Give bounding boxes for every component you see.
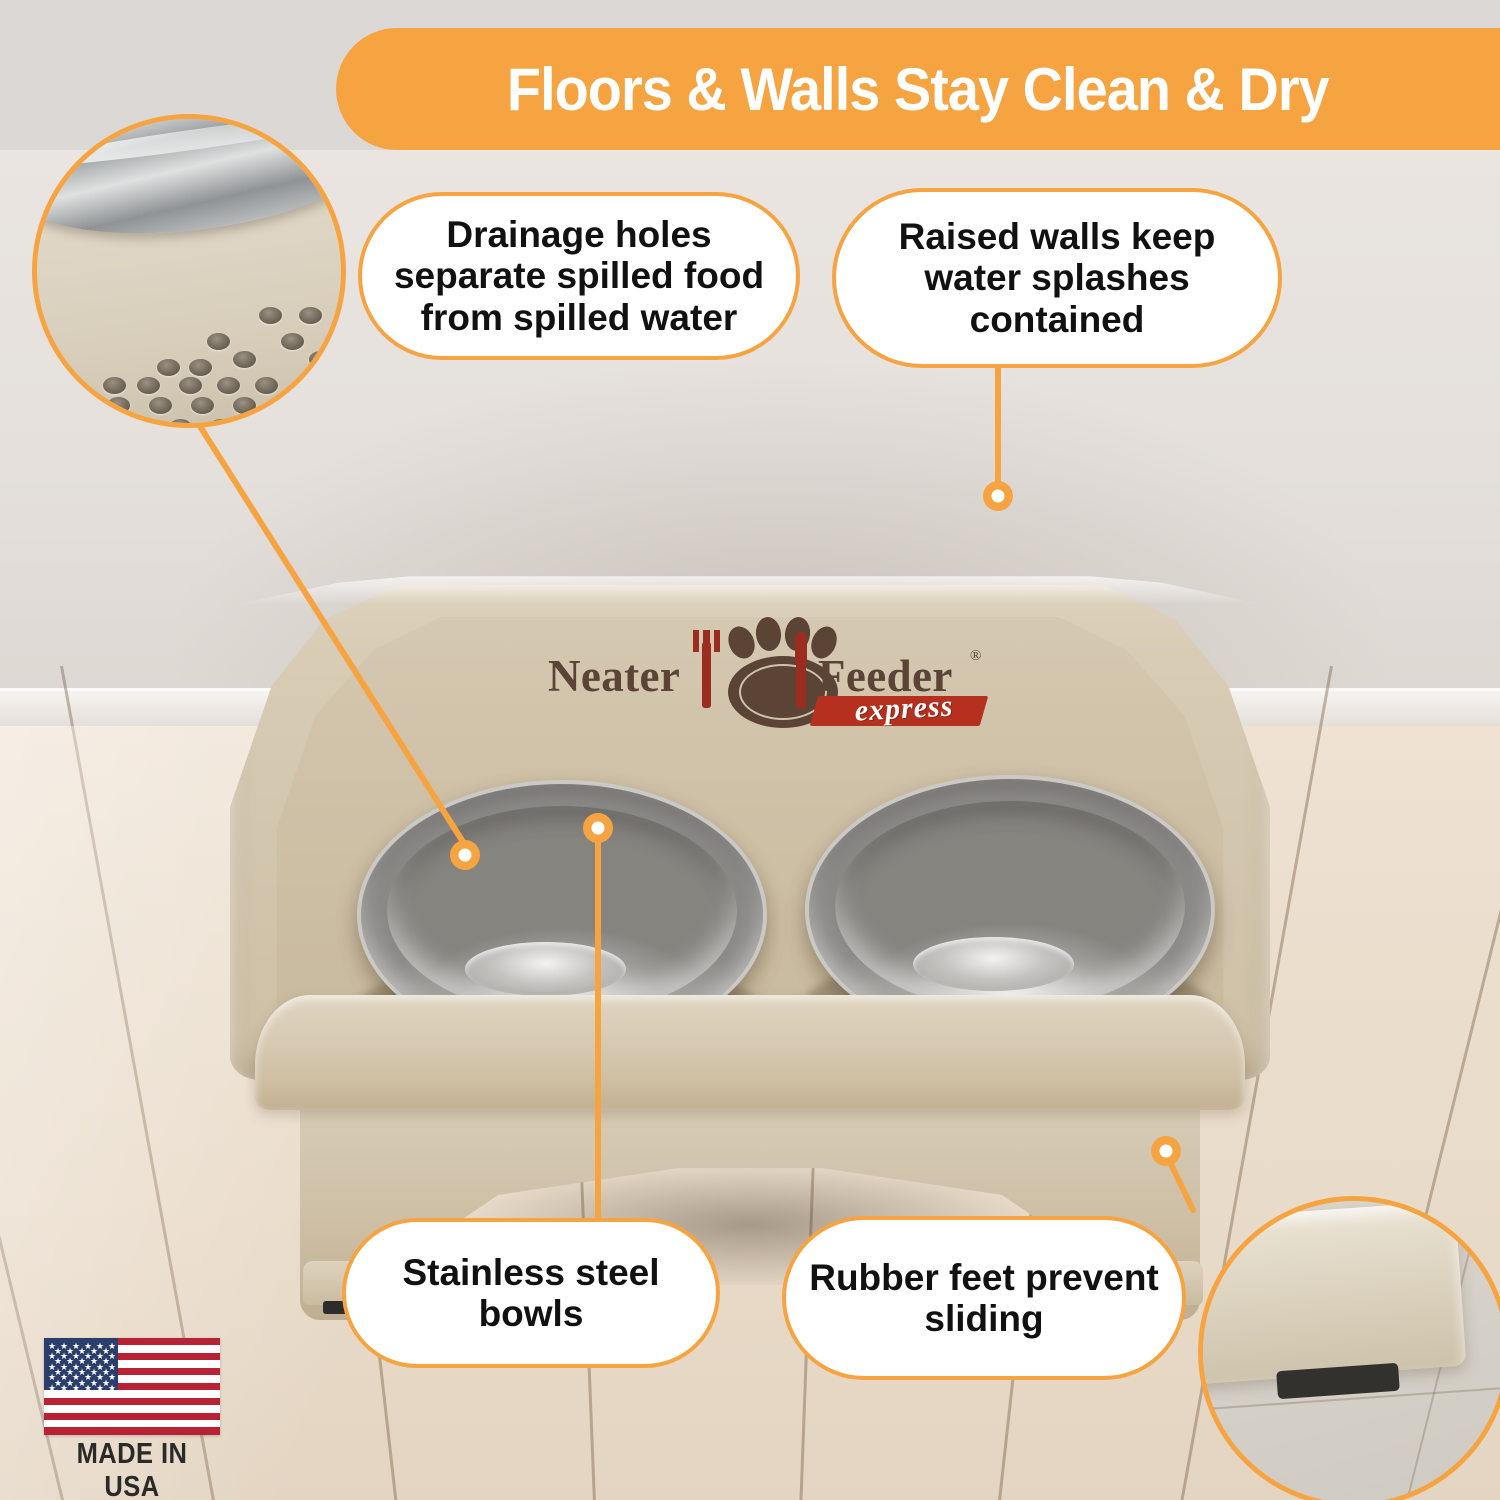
drainage-hole <box>255 377 278 394</box>
flag-star: ★ <box>108 1384 116 1393</box>
drainage-hole <box>217 377 240 394</box>
drainage-hole <box>233 397 256 414</box>
header-banner: Floors & Walls Stay Clean & Dry <box>336 28 1500 150</box>
drainage-hole <box>179 377 202 394</box>
callout-raised-walls: Raised walls keep water splashes contain… <box>832 188 1282 368</box>
made-in-usa-badge: ★★★★★★★★★★★★★★★★★★★★★★★★★★★★★★★★★★★★★★★★… <box>44 1338 220 1466</box>
drainage-holes-closeup-inset <box>32 114 346 428</box>
feeder-leg-detail <box>1198 1201 1466 1387</box>
drainage-hole <box>191 397 214 414</box>
drainage-hole <box>103 377 126 394</box>
drainage-hole <box>157 359 180 376</box>
logo-brand-first: Neater <box>548 650 680 702</box>
callout-text: Raised walls keep water splashes contain… <box>836 216 1278 340</box>
flag-stripe <box>44 1398 220 1405</box>
callout-text: Stainless steel bowls <box>346 1252 716 1335</box>
drainage-hole <box>315 363 338 380</box>
drainage-hole <box>137 377 160 394</box>
flag-stripe <box>44 1413 220 1420</box>
drainage-hole <box>107 397 130 414</box>
drainage-hole <box>233 351 256 368</box>
bowl-bottom <box>465 942 626 996</box>
made-in-usa-label: MADE IN USA <box>55 1438 210 1500</box>
drainage-hole <box>207 333 230 350</box>
knife-icon <box>796 642 806 708</box>
product-rim-highlight <box>235 575 1265 605</box>
flag-star: ★ <box>96 1384 104 1393</box>
bowl-interior <box>387 806 737 1016</box>
drainage-hole <box>275 397 298 414</box>
flag-star: ★ <box>84 1384 92 1393</box>
rubber-foot-closeup-inset <box>1198 1196 1500 1500</box>
header-title: Floors & Walls Stay Clean & Dry <box>507 55 1329 124</box>
flag-star: ★ <box>60 1384 68 1393</box>
callout-text: Drainage holes separate spilled food fro… <box>362 214 796 338</box>
us-flag-icon: ★★★★★★★★★★★★★★★★★★★★★★★★★★★★★★★★★★★★★★★★… <box>44 1338 220 1435</box>
paw-toe-icon <box>754 616 782 652</box>
fork-icon <box>702 642 711 708</box>
registered-mark: ® <box>970 648 981 665</box>
callout-stainless-bowls: Stainless steel bowls <box>342 1218 720 1368</box>
drainage-hole <box>189 359 212 376</box>
drainage-hole <box>281 333 304 350</box>
infographic-canvas: Neater Feeder ® express <box>0 0 1500 1500</box>
drainage-hole <box>299 307 322 324</box>
flag-stripe <box>44 1427 220 1434</box>
flag-star: ★ <box>48 1384 56 1393</box>
callout-rubber-feet: Rubber feet prevent sliding <box>782 1216 1186 1380</box>
brand-logo: Neater Feeder ® express <box>542 620 982 730</box>
flag-star: ★ <box>72 1384 80 1393</box>
drainage-hole <box>169 419 192 428</box>
flag-canton: ★★★★★★★★★★★★★★★★★★★★★★★★★★★★★★★★★★★★★★★★… <box>44 1338 118 1390</box>
drainage-hole <box>149 397 172 414</box>
bowl-rim-detail <box>32 114 346 256</box>
callout-drainage-holes: Drainage holes separate spilled food fro… <box>358 192 800 360</box>
callout-text: Rubber feet prevent sliding <box>786 1257 1182 1340</box>
drainage-hole <box>259 307 282 324</box>
neater-feeder-product: Neater Feeder ® express <box>205 575 1295 1320</box>
drainage-hole <box>65 397 88 414</box>
paw-toe-icon <box>724 623 760 663</box>
